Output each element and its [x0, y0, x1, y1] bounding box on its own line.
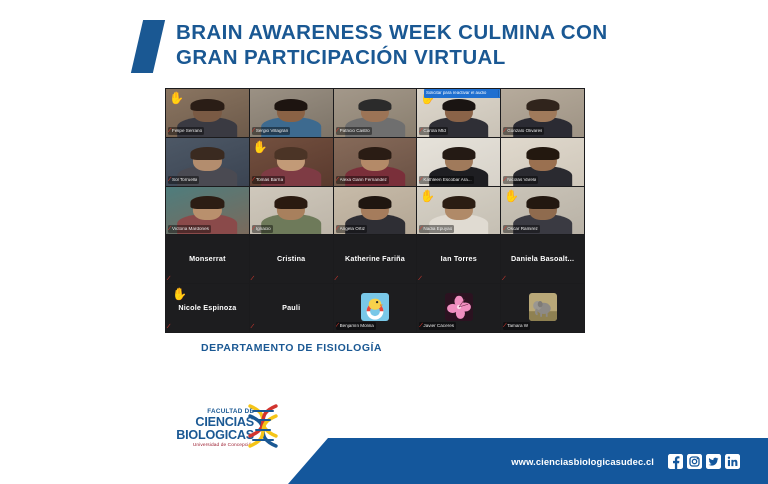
- participant-name: Alexa Garin Fernandez: [340, 178, 387, 183]
- participant-tile[interactable]: Pauli∕: [250, 284, 333, 332]
- title-line-1: BRAIN AWARENESS WEEK CULMINA CON: [176, 20, 606, 45]
- participant-tile[interactable]: ∕Nicolás Varela: [501, 138, 584, 186]
- participant-name: Sergio Villagrán: [256, 129, 288, 134]
- participant-name-chip: ∕Patricio Castro: [336, 127, 372, 135]
- participant-name-chip: ∕Alexa Garin Fernandez: [336, 176, 389, 184]
- social-icons: [668, 454, 740, 469]
- raised-hand-icon: ✋: [172, 288, 187, 300]
- muted-microphone-icon: ∕: [337, 226, 338, 232]
- muted-microphone-icon: ∕: [253, 226, 254, 232]
- participant-tile[interactable]: ∕Alexa Garin Fernandez: [334, 138, 417, 186]
- instagram-icon[interactable]: [687, 454, 702, 469]
- participant-name-chip: ∕Sergio Villagrán: [252, 127, 290, 135]
- muted-microphone-icon: ∕: [337, 323, 338, 329]
- participant-name: Oscar Ramirez: [507, 227, 538, 232]
- muted-microphone-icon: ∕: [337, 177, 338, 183]
- participant-tile[interactable]: ∕Nadia Epuyao✋: [417, 187, 500, 235]
- participant-tile[interactable]: ∕Ignacio: [250, 187, 333, 235]
- raised-hand-icon: ✋: [169, 92, 184, 104]
- participant-avatar-image: [361, 293, 389, 321]
- participant-name-chip: ∕Angela Ortiz: [336, 225, 367, 233]
- participant-tile[interactable]: ∕Gonzalo Olivares: [501, 89, 584, 137]
- muted-microphone-icon: ∕: [419, 276, 420, 282]
- participant-tile[interactable]: ∕Benjamín Molina: [334, 284, 417, 332]
- participant-name: Nicole Espinoza: [176, 304, 238, 312]
- participant-name: Sol Torruella: [172, 178, 197, 183]
- zoom-gallery-grid[interactable]: ∕Felipe Serrano✋∕Sergio Villagrán∕Patric…: [165, 88, 585, 333]
- participant-name: Ignacio: [256, 227, 271, 232]
- participant-name: Cristina: [275, 255, 307, 263]
- participant-name: Felipe Serrano: [172, 129, 202, 134]
- participant-name: Javier Cáceres: [423, 324, 454, 329]
- linkedin-icon[interactable]: [725, 454, 740, 469]
- participant-tile[interactable]: ∕Angela Ortiz: [334, 187, 417, 235]
- participant-name-chip: ∕Tamara W: [503, 322, 530, 330]
- participant-name-chip: ∕Oscar Ramirez: [503, 225, 540, 233]
- participant-name-chip: ∕Benjamín Molina: [336, 322, 376, 330]
- faculty-logo: FACULTAD DE CIENCIAS BIOLOGICAS Universi…: [176, 403, 296, 455]
- participant-name: Monserrat: [187, 255, 228, 263]
- title-accent-bar: [131, 20, 165, 73]
- participant-tile[interactable]: Katherine Fariña∕: [334, 235, 417, 283]
- close-icon[interactable]: ×: [498, 90, 500, 97]
- participant-name: Victoria Mardones: [172, 227, 209, 232]
- participant-name: Tomás Barría: [256, 178, 283, 183]
- participant-name-chip: ∕Felipe Serrano: [168, 127, 204, 135]
- participant-name-chip: ∕Nicolás Varela: [503, 176, 538, 184]
- participant-name: Katherine Fariña: [343, 255, 407, 263]
- participant-name-chip: ∕Nadia Epuyao: [419, 225, 454, 233]
- muted-microphone-icon: ∕: [503, 276, 504, 282]
- participant-tile[interactable]: Monserrat∕: [166, 235, 249, 283]
- participant-tile[interactable]: ∕Victoria Mardones: [166, 187, 249, 235]
- participant-tile[interactable]: Daniela Basoalt...∕: [501, 235, 584, 283]
- unmute-request-tooltip[interactable]: Solicitar para reactivar el audio×: [424, 89, 500, 98]
- participant-name: Ian Torres: [439, 255, 479, 263]
- participant-name-chip: ∕Tomás Barría: [252, 176, 285, 184]
- muted-microphone-icon: ∕: [252, 324, 253, 330]
- participant-tile[interactable]: Ian Torres∕: [417, 235, 500, 283]
- muted-microphone-icon: ∕: [420, 177, 421, 183]
- participant-name-chip: ∕Carola Mtd: [419, 127, 447, 135]
- participant-name-chip: ∕Kathleen Escobar Ara...: [419, 176, 473, 184]
- participant-tile[interactable]: Cristina∕: [250, 235, 333, 283]
- participant-name: Gonzalo Olivares: [507, 129, 542, 134]
- participant-name: Carola Mtd: [423, 129, 445, 134]
- tooltip-text: Solicitar para reactivar el audio: [426, 91, 498, 95]
- participant-name: Tamara W: [507, 324, 528, 329]
- participant-tile[interactable]: ∕Kathleen Escobar Ara...: [417, 138, 500, 186]
- muted-microphone-icon: ∕: [253, 177, 254, 183]
- participant-name-chip: ∕Ignacio: [252, 225, 273, 233]
- website-url[interactable]: www.cienciasbiologicasudec.cl: [511, 456, 654, 467]
- participant-tile[interactable]: ∕Sol Torruella: [166, 138, 249, 186]
- department-label: DEPARTAMENTO DE FISIOLOGÍA: [201, 342, 382, 354]
- participant-tile[interactable]: ∕Carola Mtd✋Solicitar para reactivar el …: [417, 89, 500, 137]
- participant-tile[interactable]: ∕Javier Cáceres: [417, 284, 500, 332]
- muted-microphone-icon: ∕: [252, 276, 253, 282]
- raised-hand-icon: ✋: [504, 190, 519, 202]
- muted-microphone-icon: ∕: [420, 226, 421, 232]
- muted-microphone-icon: ∕: [504, 323, 505, 329]
- participant-name: Angela Ortiz: [340, 227, 365, 232]
- footer-bar: www.cienciasbiologicasudec.cl: [0, 438, 768, 484]
- participant-name: Kathleen Escobar Ara...: [423, 178, 471, 183]
- participant-name: Benjamín Molina: [340, 324, 374, 329]
- muted-microphone-icon: ∕: [168, 276, 169, 282]
- twitter-icon[interactable]: [706, 454, 721, 469]
- muted-microphone-icon: ∕: [336, 276, 337, 282]
- title-line-2: GRAN PARTICIPACIÓN VIRTUAL: [176, 45, 606, 70]
- dna-helix-icon: [240, 403, 292, 458]
- muted-microphone-icon: ∕: [420, 128, 421, 134]
- participant-tile[interactable]: ∕Oscar Ramirez✋: [501, 187, 584, 235]
- participant-avatar-image: [445, 293, 473, 321]
- muted-microphone-icon: ∕: [337, 128, 338, 134]
- participant-name-chip: ∕Gonzalo Olivares: [503, 127, 544, 135]
- raised-hand-icon: ✋: [253, 141, 268, 153]
- page-title: BRAIN AWARENESS WEEK CULMINA CON GRAN PA…: [176, 20, 606, 70]
- participant-name-chip: ∕Javier Cáceres: [419, 322, 456, 330]
- participant-name: Patricio Castro: [340, 129, 370, 134]
- muted-microphone-icon: ∕: [504, 226, 505, 232]
- participant-avatar-image: [529, 293, 557, 321]
- participant-tile[interactable]: ∕Tomás Barría✋: [250, 138, 333, 186]
- participant-name: Nadia Epuyao: [423, 227, 452, 232]
- facebook-icon[interactable]: [668, 454, 683, 469]
- muted-microphone-icon: ∕: [420, 323, 421, 329]
- muted-microphone-icon: ∕: [168, 324, 169, 330]
- participant-name: Pauli: [280, 304, 302, 312]
- participant-name: Daniela Basoalt...: [509, 255, 576, 263]
- participant-tile[interactable]: ∕Felipe Serrano✋: [166, 89, 249, 137]
- muted-microphone-icon: ∕: [169, 128, 170, 134]
- participant-name-chip: ∕Sol Torruella: [168, 176, 199, 184]
- muted-microphone-icon: ∕: [253, 128, 254, 134]
- participant-name-chip: ∕Victoria Mardones: [168, 225, 211, 233]
- raised-hand-icon: ✋: [420, 190, 435, 202]
- muted-microphone-icon: ∕: [504, 128, 505, 134]
- muted-microphone-icon: ∕: [504, 177, 505, 183]
- participant-tile[interactable]: ∕Patricio Castro: [334, 89, 417, 137]
- muted-microphone-icon: ∕: [169, 177, 170, 183]
- participant-tile[interactable]: ∕Tamara W: [501, 284, 584, 332]
- participant-tile[interactable]: ∕Sergio Villagrán: [250, 89, 333, 137]
- participant-name: Nicolás Varela: [507, 178, 536, 183]
- footer-content: www.cienciasbiologicasudec.cl: [288, 438, 768, 484]
- participant-tile[interactable]: Nicole Espinoza∕✋: [166, 284, 249, 332]
- muted-microphone-icon: ∕: [169, 226, 170, 232]
- slide-title-block: BRAIN AWARENESS WEEK CULMINA CON GRAN PA…: [137, 20, 606, 73]
